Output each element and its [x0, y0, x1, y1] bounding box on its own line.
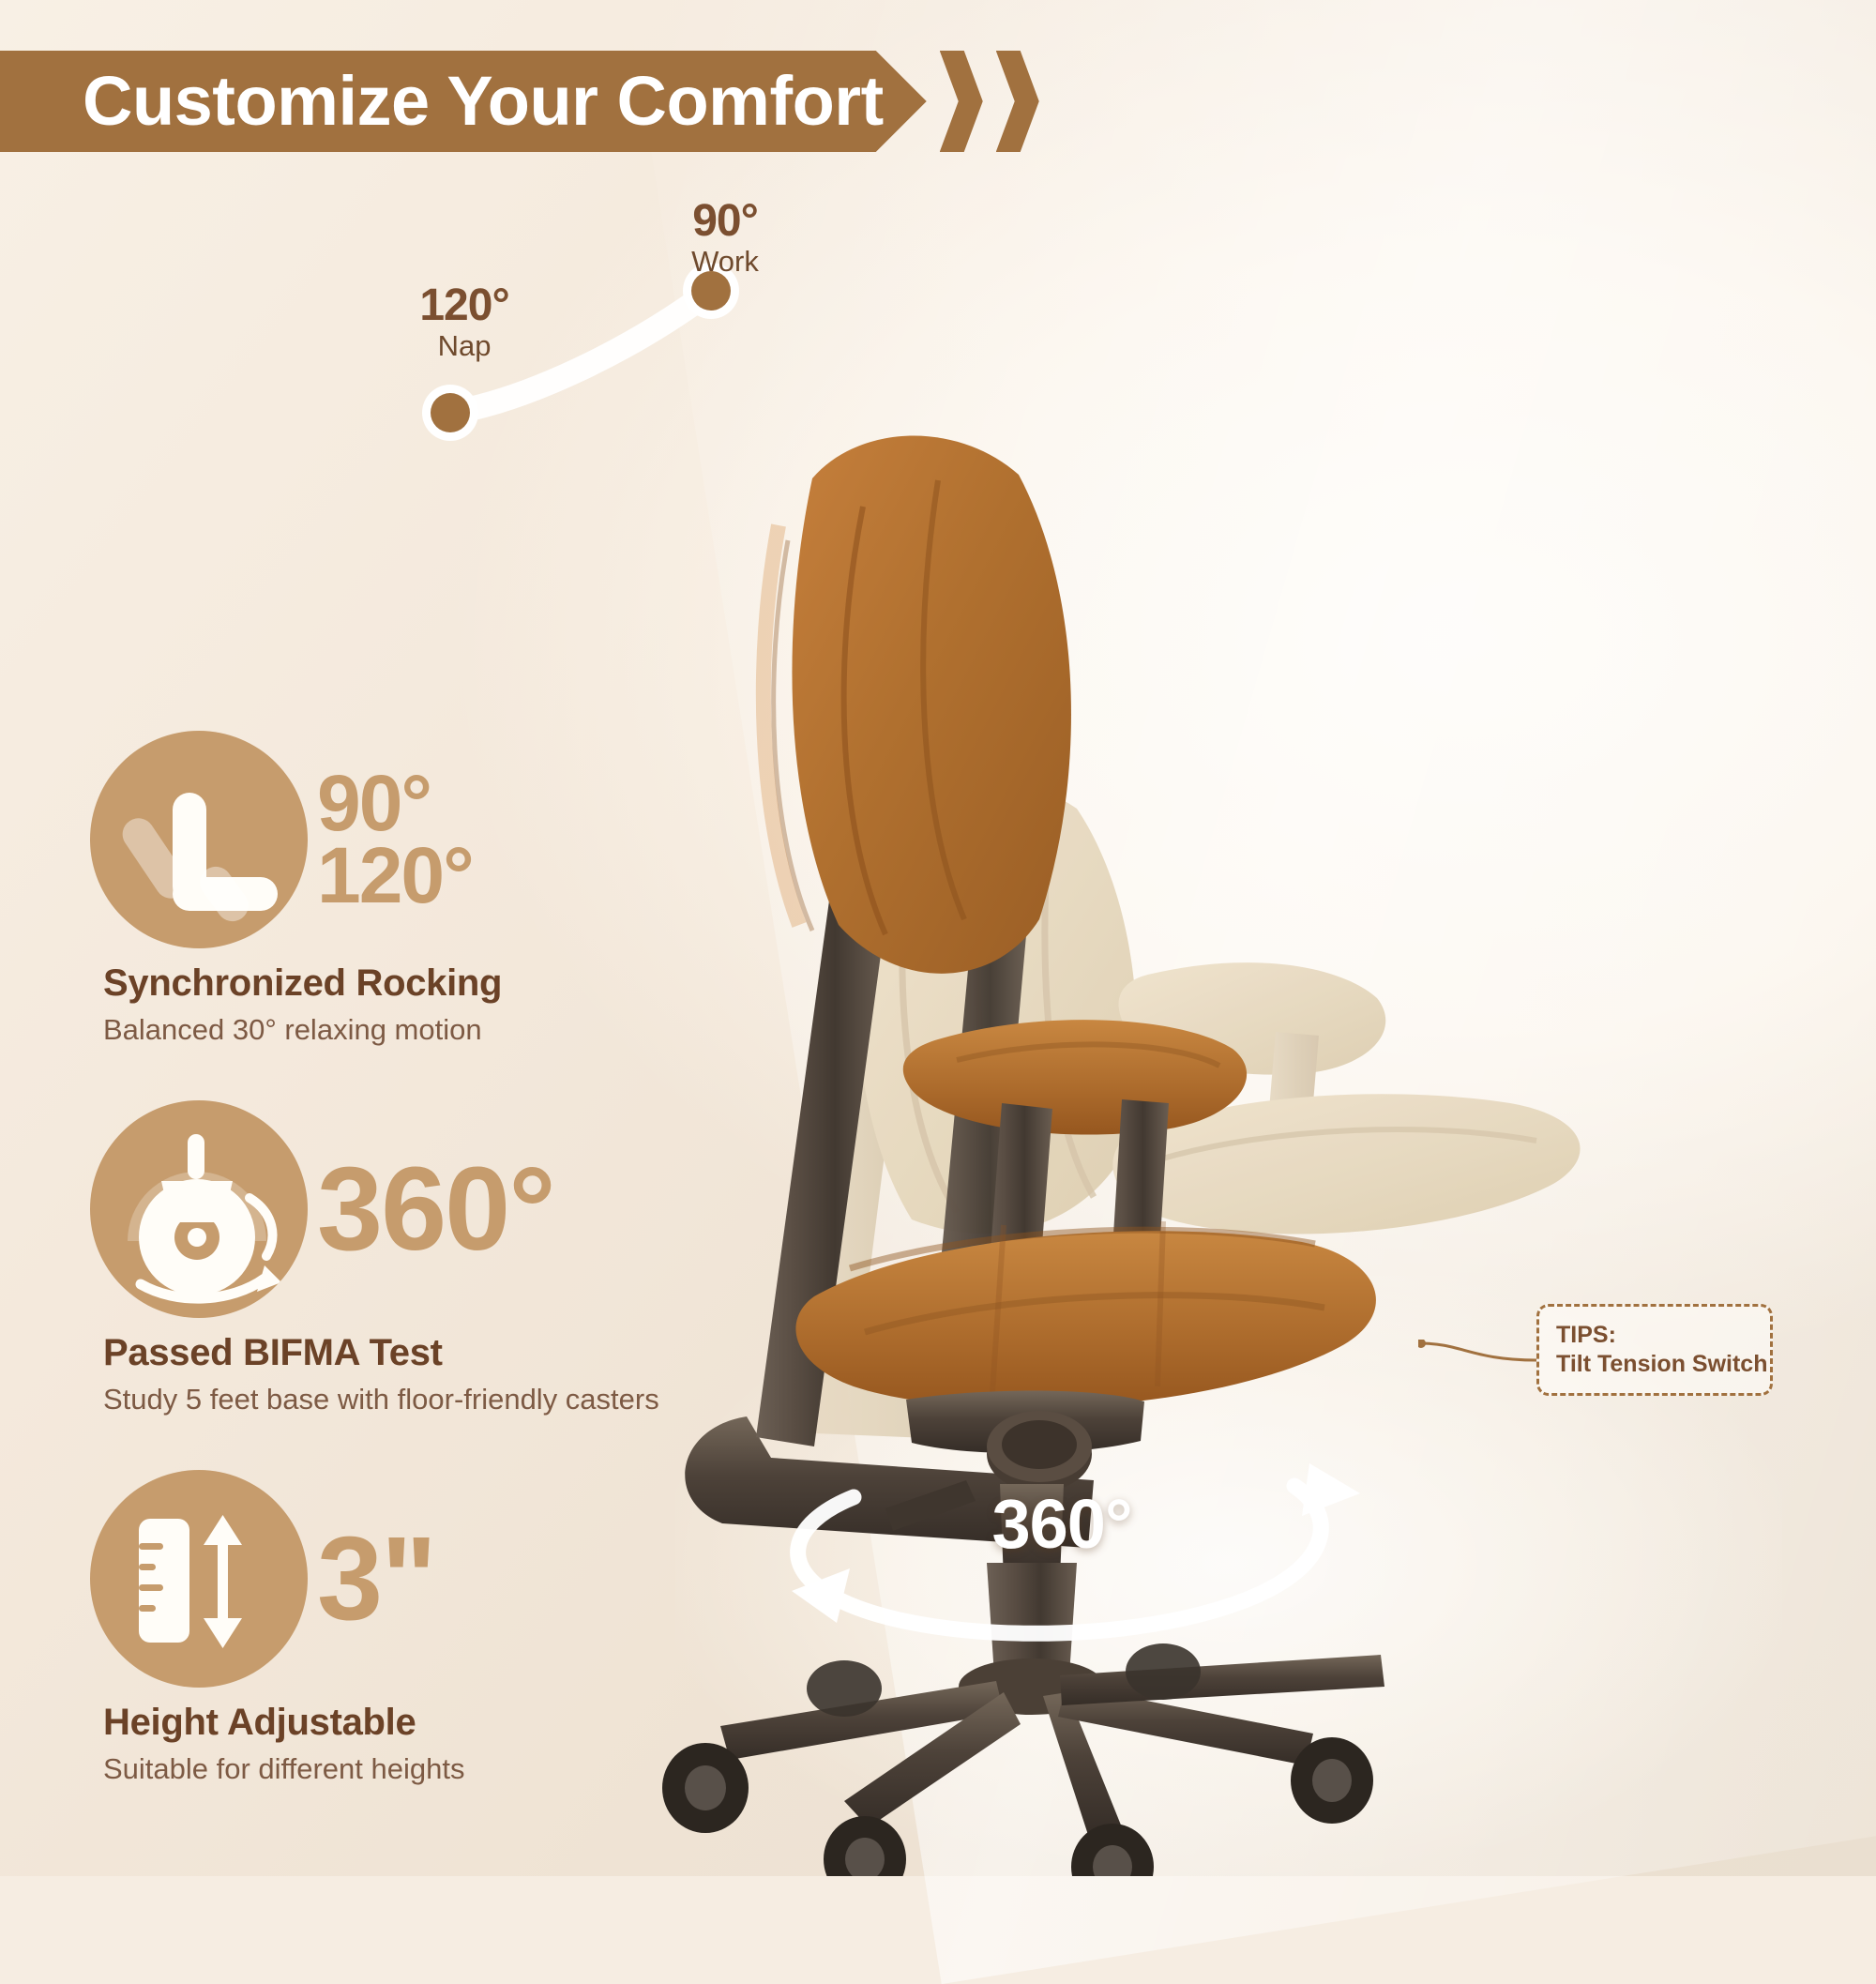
feature-value-line-1: 360°	[317, 1155, 554, 1264]
feature-title: Synchronized Rocking	[103, 962, 709, 1005]
feature-desc: Suitable for different heights	[103, 1752, 709, 1786]
feature-text: Height Adjustable Suitable for different…	[103, 1702, 709, 1786]
caster-wheel-icon	[90, 1100, 308, 1318]
rotation-360-value: 360	[991, 1485, 1104, 1563]
feature-desc: Balanced 30° relaxing motion	[103, 1013, 709, 1047]
page-title: Customize Your Comfort	[83, 67, 884, 136]
feature-text: Passed BIFMA Test Study 5 feet base with…	[103, 1332, 709, 1416]
height-ruler-icon	[90, 1470, 308, 1688]
feature-value-height: 3"	[317, 1524, 435, 1633]
recline-nap-degree: 120°	[356, 281, 572, 330]
rotation-360-label: 360°	[930, 1484, 1193, 1564]
seat-recline-icon	[90, 731, 308, 948]
recline-work-degree: 90°	[617, 197, 833, 246]
chevron-arrow-icon-2	[996, 51, 1039, 152]
feature-row: 3"	[90, 1461, 709, 1696]
recline-work-label: 90° Work	[617, 197, 833, 277]
feature-title: Passed BIFMA Test	[103, 1332, 709, 1374]
banner-body: Customize Your Comfort	[0, 51, 927, 152]
feature-height-adjustable: 3" Height Adjustable Suitable for differ…	[90, 1461, 709, 1786]
rotation-360-indicator: 360°	[713, 1426, 1407, 1707]
feature-desc: Study 5 feet base with floor-friendly ca…	[103, 1383, 709, 1416]
feature-value-line-2: 120°	[317, 840, 473, 912]
tips-callout: TIPS: Tilt Tension Switch	[1536, 1304, 1773, 1396]
recline-nap-label: 120° Nap	[356, 281, 572, 361]
feature-row: 360°	[90, 1092, 709, 1326]
feature-value-line-1: 90°	[317, 767, 473, 840]
recline-work-text: Work	[617, 246, 833, 277]
feature-synchronized-rocking: 90° 120° Synchronized Rocking Balanced 3…	[90, 722, 709, 1047]
feature-value-rotation: 360°	[317, 1155, 554, 1264]
feature-title: Height Adjustable	[103, 1702, 709, 1744]
recline-nap-text: Nap	[356, 330, 572, 361]
feature-value-recline: 90° 120°	[317, 767, 473, 913]
feature-value-line-1: 3"	[317, 1524, 435, 1633]
tips-line-1: TIPS:	[1556, 1321, 1770, 1351]
rotation-360-degree: °	[1105, 1485, 1132, 1563]
rotation-arrow-graphic	[713, 1426, 1407, 1707]
feature-text: Synchronized Rocking Balanced 30° relaxi…	[103, 962, 709, 1047]
feature-list: 90° 120° Synchronized Rocking Balanced 3…	[90, 722, 709, 1831]
feature-passed-bifma-test: 360° Passed BIFMA Test Study 5 feet base…	[90, 1092, 709, 1416]
chevron-arrow-icon-1	[940, 51, 983, 152]
tips-leader-line	[1418, 1340, 1538, 1371]
feature-row: 90° 120°	[90, 722, 709, 957]
header-banner: Customize Your Comfort	[0, 51, 1039, 152]
tips-line-2: Tilt Tension Switch	[1556, 1350, 1770, 1380]
